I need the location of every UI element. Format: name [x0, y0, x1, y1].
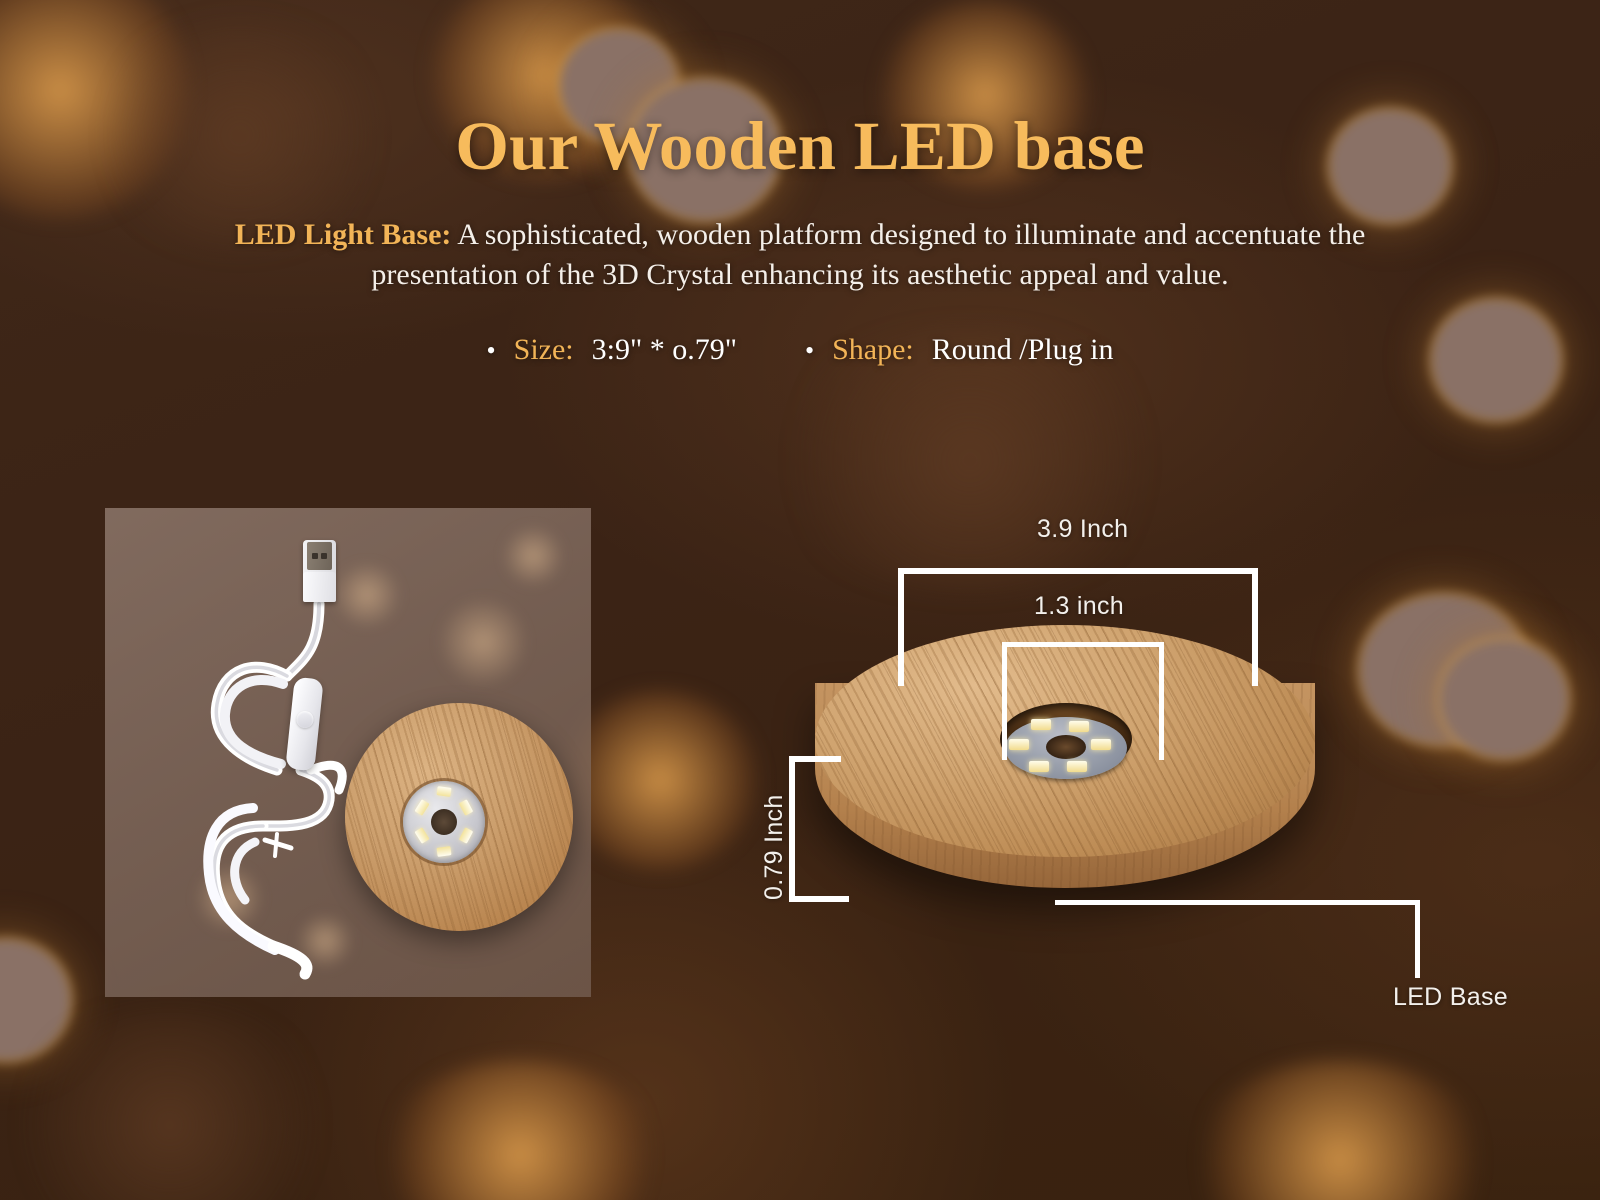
usb-plug [303, 540, 336, 602]
spec-key-size: Size: [514, 333, 574, 367]
description-paragraph: LED Light Base: A sophisticated, wooden … [175, 215, 1425, 294]
spec-value-shape: Round /Plug in [932, 333, 1114, 367]
width-label: 3.9 Inch [1037, 515, 1128, 544]
usb-collar [303, 572, 336, 602]
width-bracket-top [898, 568, 1258, 574]
led-center-hub [1046, 735, 1086, 759]
callout-label: LED Base [1393, 983, 1508, 1012]
led-chip [1031, 719, 1051, 730]
bullet-icon: • [487, 338, 496, 364]
inner-label: 1.3 inch [1034, 592, 1124, 621]
inner-bracket-top [1002, 642, 1164, 647]
width-bracket-right-tick [1252, 568, 1258, 686]
led-chip [1029, 761, 1049, 772]
spec-value-size: 3:9" * o.79" [592, 333, 737, 367]
wooden-base-perspective [815, 625, 1315, 955]
dimension-diagram: 3.9 Inch 1.3 inch 0.79 Inch LED Base [700, 470, 1560, 1050]
height-bracket-bot-tick [789, 896, 849, 902]
spec-item-shape: • Shape: Round /Plug in [805, 333, 1113, 367]
width-bracket-left-tick [898, 568, 904, 686]
usb-cable [105, 508, 591, 997]
spec-list: • Size: 3:9" * o.79" • Shape: Round /Plu… [0, 333, 1600, 367]
height-bracket-top-tick [789, 756, 841, 762]
description-lead: LED Light Base: [235, 218, 452, 251]
inner-bracket-right-tick [1159, 642, 1164, 760]
height-bracket-line [789, 756, 795, 902]
header: Our Wooden LED base LED Light Base: A so… [0, 0, 1600, 367]
inner-bracket-left-tick [1002, 642, 1007, 760]
page-title: Our Wooden LED base [0, 112, 1600, 181]
led-chip [1009, 739, 1029, 750]
bullet-icon: • [805, 338, 814, 364]
led-chip [1067, 761, 1087, 772]
led-module-perspective [1005, 717, 1127, 779]
led-chip [1069, 721, 1089, 732]
callout-line-vertical [1415, 900, 1420, 978]
spec-item-size: • Size: 3:9" * o.79" [487, 333, 737, 367]
spec-key-shape: Shape: [832, 333, 914, 367]
led-chip [1091, 739, 1111, 750]
callout-line-horizontal [1055, 900, 1420, 905]
product-photo-left [105, 508, 591, 997]
description-body: A sophisticated, wooden platform designe… [371, 218, 1365, 291]
height-label: 0.79 Inch [760, 794, 789, 900]
usb-connector-metal [307, 542, 332, 570]
switch-button [296, 710, 315, 729]
